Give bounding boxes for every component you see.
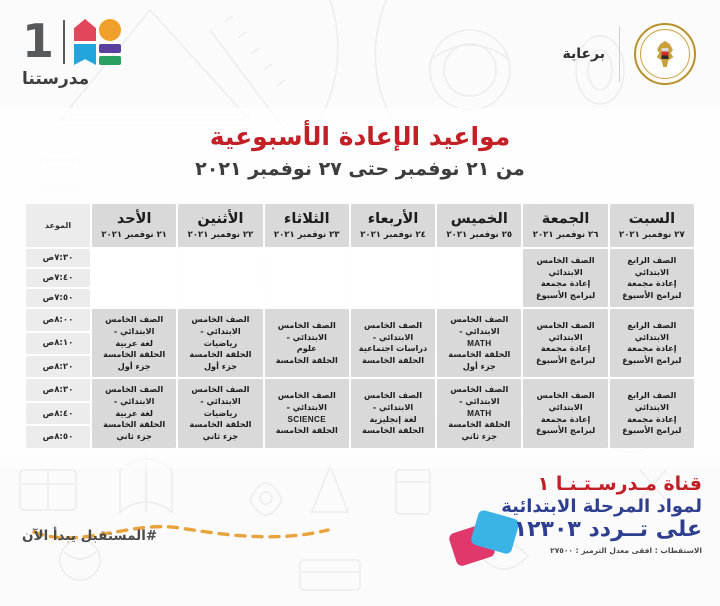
header-row: السبت٢٧ نوفمبر ٢٠٢١الجمعة٢٦ نوفمبر ٢٠٢١ا… [26,204,694,247]
cell-line: الصف الخامس الابتدائي [526,320,604,343]
cell-line: رياضيات [181,338,259,350]
logo-blue-shape [74,44,96,65]
page-subtitle: من ٢١ نوفمبر حتى ٢٧ نوفمبر ٢٠٢١ [0,158,720,180]
cell-line: الصف الخامس الابتدائي - [354,320,432,343]
day-header-3: الخميس٢٥ نوفمبر ٢٠٢١ [437,204,521,247]
day-header-2: الجمعة٢٦ نوفمبر ٢٠٢١ [523,204,607,247]
schedule-cell: الصف الخامس الابتدائي - لغة عربيةالحلقة … [92,309,176,377]
cell-line: لبرامج الأسبوع [613,355,691,367]
day-date: ٢٥ نوفمبر ٢٠٢١ [439,230,519,240]
schedule-cell: الصف الخامس الابتدائي - MATHالحلقة الخام… [437,379,521,447]
schedule-cell: الصف الخامس الابتدائي - لغة إنجليزيةالحل… [351,379,435,447]
cell-line: الحلقة الخامسة [95,349,173,361]
header-divider [619,26,620,82]
time-slot: ٨:٥٠ص [26,426,90,447]
madrasatna-logo-icon [74,19,121,65]
schedule-head: السبت٢٧ نوفمبر ٢٠٢١الجمعة٢٦ نوفمبر ٢٠٢١ا… [26,204,694,247]
schedule-cell: الصف الخامس الابتدائي - علومالحلقة الخام… [265,309,349,377]
schedule-cell: الصف الخامس الابتدائي - دراسات اجتماعيةا… [351,309,435,377]
time-slot: ٧:٣٠ص [26,249,90,267]
cell-line: الصف الخامس الابتدائي - [181,384,259,407]
day-header-6: الأثنين٢٢ نوفمبر ٢٠٢١ [178,204,262,247]
schedule-cell-empty [265,249,349,307]
sponsor-block: برعاية [562,23,696,85]
cell-line: MATH [440,338,518,350]
channel-number: 1 [22,23,54,61]
cell-line: الصف الخامس الابتدائي - [95,314,173,337]
cell-line: جزء أول [181,361,259,373]
day-name: الخميس [439,212,519,227]
cell-line: جزء ثاني [181,431,259,443]
cell-line: الحلقة الخامسة [181,419,259,431]
footer-bar: #المستقبل يبدأ الآن قناة مـدرسـتـنـا ١ ل… [0,466,720,606]
table-row: الصف الرابع الابتدائيإعادة مجمعةلبرامج ا… [26,379,694,400]
page-title: مواعيد الإعادة الأسبوعية [0,122,720,151]
schedule-cell: الصف الخامس الابتدائيإعادة مجمعةلبرامج ا… [523,249,607,307]
day-name: السبت [612,212,692,227]
cell-line: الصف الخامس الابتدائي [526,255,604,278]
cell-line: الصف الخامس الابتدائي - [268,390,346,413]
cell-line: الصف الرابع الابتدائي [613,320,691,343]
cell-line: الصف الخامس الابتدائي - [181,314,259,337]
table-row: الصف الرابع الابتدائيإعادة مجمعةلبرامج ا… [26,249,694,267]
cell-line: لبرامج الأسبوع [613,290,691,302]
day-header-5: الثلاثاء٢٣ نوفمبر ٢٠٢١ [265,204,349,247]
brand-separator [63,20,65,64]
cell-line: الحلقة الخامسة [268,355,346,367]
logo-circle-shape [99,19,121,41]
logo-house-shape [74,19,96,41]
cell-line: دراسات اجتماعية [354,343,432,355]
cell-line: الحلقة الخامسة [440,349,518,361]
channel-name: مدرستنا [22,69,89,89]
channel-brand: 1 مدرستنا [22,19,121,89]
cell-line: جزء ثاني [440,431,518,443]
day-date: ٢٧ نوفمبر ٢٠٢١ [612,230,692,240]
day-header-4: الأربعاء٢٤ نوفمبر ٢٠٢١ [351,204,435,247]
cell-line: لبرامج الأسبوع [526,355,604,367]
cell-line: الحلقة الخامسة [268,425,346,437]
cell-line: الصف الرابع الابتدائي [613,390,691,413]
cell-line: لبرامج الأسبوع [526,425,604,437]
day-name: الأثنين [180,212,260,227]
cell-line: الصف الخامس الابتدائي - [95,384,173,407]
time-slot: ٨:١٠ص [26,333,90,354]
day-date: ٢١ نوفمبر ٢٠٢١ [94,230,174,240]
day-header-7: الأحد٢١ نوفمبر ٢٠٢١ [92,204,176,247]
schedule-table-wrap: السبت٢٧ نوفمبر ٢٠٢١الجمعة٢٦ نوفمبر ٢٠٢١ا… [24,202,696,450]
hashtag-text: #المستقبل يبدأ الآن [22,528,157,544]
cell-line: لبرامج الأسبوع [526,290,604,302]
cell-line: الحلقة الخامسة [440,419,518,431]
cell-line: الصف الخامس الابتدائي [526,390,604,413]
schedule-cell: الصف الرابع الابتدائيإعادة مجمعةلبرامج ا… [610,379,694,447]
logo-purple-bar [99,44,121,53]
cell-line: الحلقة الخامسة [181,349,259,361]
schedule-cell: الصف الخامس الابتدائي - SCIENCEالحلقة ال… [265,379,349,447]
cell-line: الصف الخامس الابتدائي - [440,384,518,407]
schedule-cell: الصف الرابع الابتدائيإعادة مجمعةلبرامج ا… [610,249,694,307]
channel-info-block: قناة مـدرسـتـنـا ١ لمواد المرحلة الابتدا… [501,474,702,555]
cell-line: جزء أول [95,361,173,373]
cell-line: إعادة مجمعة [613,278,691,290]
schedule-cell: الصف الخامس الابتدائي - رياضياتالحلقة ال… [178,379,262,447]
footer-stage-line: لمواد المرحلة الابتدائية [501,497,702,517]
time-slot: ٨:٢٠ص [26,356,90,377]
day-date: ٢٤ نوفمبر ٢٠٢١ [353,230,433,240]
day-date: ٢٢ نوفمبر ٢٠٢١ [180,230,260,240]
schedule-cell-empty [437,249,521,307]
cell-line: إعادة مجمعة [526,414,604,426]
cell-line: جزء ثاني [95,431,173,443]
cell-line: MATH [440,408,518,420]
cell-line: الصف الخامس الابتدائي - [268,320,346,343]
schedule-cell: الصف الخامس الابتدائيإعادة مجمعةلبرامج ا… [523,309,607,377]
cell-line: إعادة مجمعة [526,278,604,290]
header-bar: برعاية 1 مدرستنا [0,0,720,108]
footer-fine-print: الاستقطاب : افقى معدل الترميز : ٢٧٥٠٠ [501,547,702,555]
cell-line: الصف الرابع الابتدائي [613,255,691,278]
cell-line: الحلقة الخامسة [354,355,432,367]
cell-line: الصف الخامس الابتدائي - [440,314,518,337]
cell-line: إعادة مجمعة [613,343,691,355]
schedule-cell: الصف الرابع الابتدائيإعادة مجمعةلبرامج ا… [610,309,694,377]
footer-frequency-line: على تــردد ١٢٣٠٣ [501,518,702,543]
schedule-cell: الصف الخامس الابتدائيإعادة مجمعةلبرامج ا… [523,379,607,447]
cell-line: إعادة مجمعة [526,343,604,355]
table-row: الصف الرابع الابتدائيإعادة مجمعةلبرامج ا… [26,309,694,330]
day-name: الجمعة [525,212,605,227]
cell-line: لغة عربية [95,408,173,420]
day-date: ٢٣ نوفمبر ٢٠٢١ [267,230,347,240]
sponsor-label: برعاية [562,46,605,62]
schedule-table: السبت٢٧ نوفمبر ٢٠٢١الجمعة٢٦ نوفمبر ٢٠٢١ا… [24,202,696,450]
logo-green-bar [99,56,121,65]
cell-line: علوم [268,343,346,355]
schedule-cell: الصف الخامس الابتدائي - لغة عربيةالحلقة … [92,379,176,447]
cell-line: الحلقة الخامسة [95,419,173,431]
schedule-cell-empty [351,249,435,307]
cell-line: جزء أول [440,361,518,373]
eagle-emblem-icon [654,41,676,67]
cell-line: رياضيات [181,408,259,420]
schedule-cell: الصف الخامس الابتدائي - MATHالحلقة الخام… [437,309,521,377]
cell-line: لغة إنجليزية [354,414,432,426]
day-header-1: السبت٢٧ نوفمبر ٢٠٢١ [610,204,694,247]
time-slot: ٨:٠٠ص [26,309,90,330]
cell-line: لبرامج الأسبوع [613,425,691,437]
time-slot: ٨:٤٠ص [26,403,90,424]
cell-line: إعادة مجمعة [613,414,691,426]
schedule-body: الصف الرابع الابتدائيإعادة مجمعةلبرامج ا… [26,249,694,447]
time-slot: ٨:٣٠ص [26,379,90,400]
day-date: ٢٦ نوفمبر ٢٠٢١ [525,230,605,240]
time-slot: ٧:٥٠ص [26,289,90,307]
time-slot: ٧:٤٠ص [26,269,90,287]
ministry-seal-icon [634,23,696,85]
footer-channel-line: قناة مـدرسـتـنـا ١ [501,474,702,495]
day-name: الثلاثاء [267,212,347,227]
poster-root: برعاية 1 مدرستنا مواعيد الإعادة الأسبوعي… [0,0,720,606]
cell-line: لغة عربية [95,338,173,350]
title-block: مواعيد الإعادة الأسبوعية من ٢١ نوفمبر حت… [0,108,720,180]
slot-column-header: الموعد [26,204,90,247]
day-name: الأحد [94,212,174,227]
cell-line: SCIENCE [268,414,346,426]
cell-line: الحلقة الخامسة [354,425,432,437]
schedule-cell: الصف الخامس الابتدائي - رياضياتالحلقة ال… [178,309,262,377]
schedule-cell-empty [92,249,176,307]
brand-row: 1 [22,19,121,65]
day-name: الأربعاء [353,212,433,227]
schedule-cell-empty [178,249,262,307]
cell-line: الصف الخامس الابتدائي - [354,390,432,413]
